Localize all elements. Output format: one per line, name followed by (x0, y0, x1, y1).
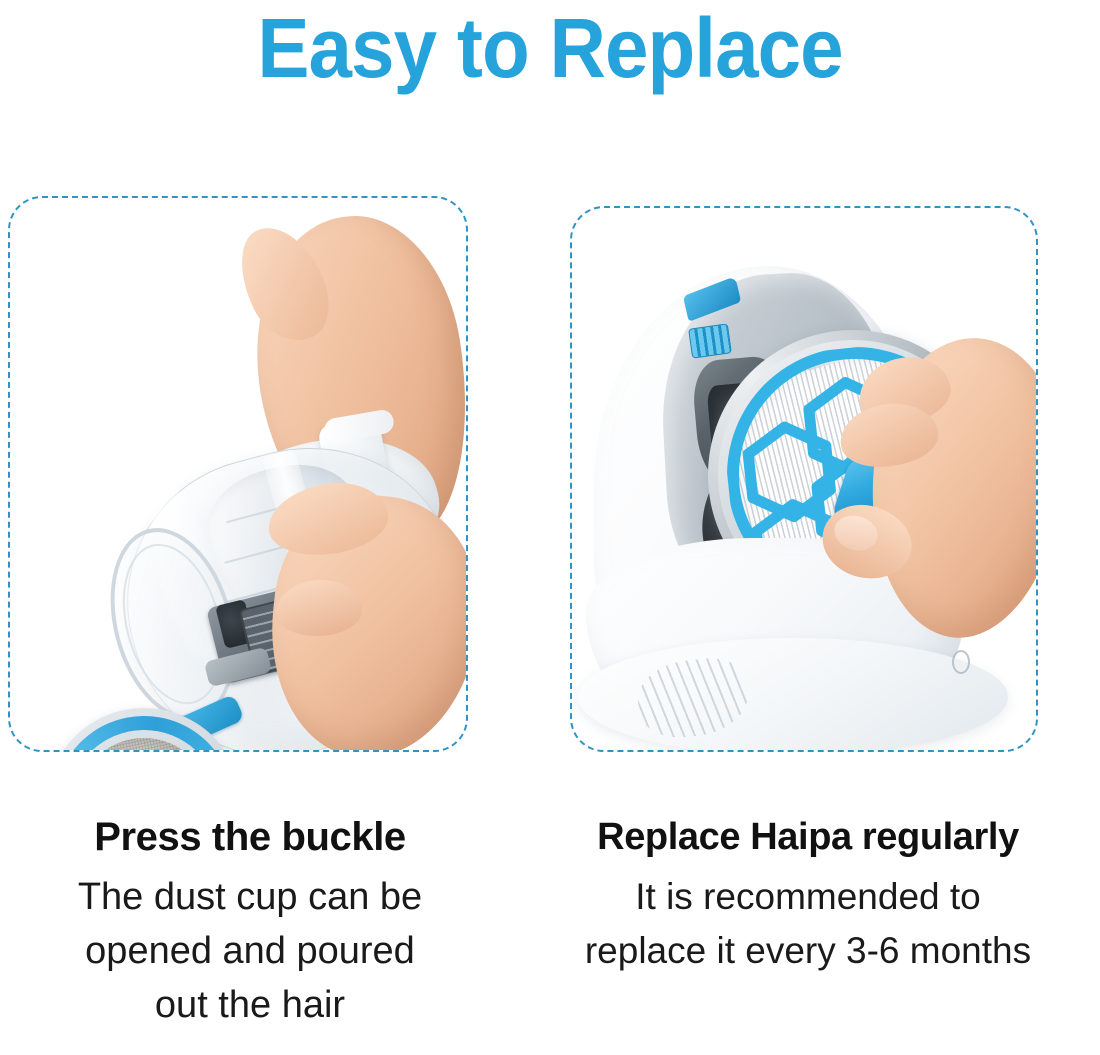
photo-panel-right (570, 206, 1038, 752)
caption-left: Press the buckle The dust cup can be ope… (0, 812, 500, 1032)
hepa-filter-replacement-photo (572, 208, 1036, 750)
caption-right-body: It is recommended to replace it every 3-… (528, 870, 1088, 978)
caption-left-heading: Press the buckle (0, 812, 500, 862)
blue-vent-grille (688, 323, 732, 358)
caption-left-body-line-1: The dust cup can be (0, 870, 500, 924)
caption-right-heading: Replace Haipa regularly (528, 812, 1088, 862)
caption-right-body-line-2: replace it every 3-6 months (528, 924, 1088, 978)
base-port-hole (952, 650, 970, 674)
caption-left-body: The dust cup can be opened and poured ou… (0, 870, 500, 1032)
photo-panel-left (8, 196, 468, 752)
caption-left-body-line-3: out the hair (0, 978, 500, 1032)
page-title: Easy to Replace (39, 2, 1062, 94)
caption-left-body-line-2: opened and poured (0, 924, 500, 978)
caption-right: Replace Haipa regularly It is recommende… (528, 812, 1088, 978)
dust-cup-opening-photo (10, 198, 466, 750)
caption-right-body-line-1: It is recommended to (528, 870, 1088, 924)
